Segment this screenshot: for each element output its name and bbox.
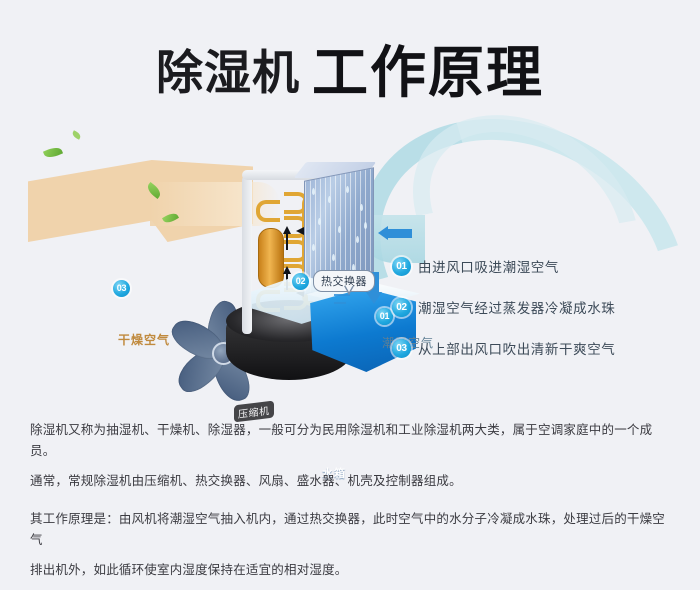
badge-number: 03 [113,280,130,297]
legend-list: 01 由进风口吸进潮湿空气 02 潮湿空气经过蒸发器冷凝成水珠 03 从上部出风… [392,256,672,379]
title-part-2: 工作原理 [312,41,544,104]
water-line [334,302,346,304]
callout-badge-02: 02 [292,271,309,290]
legend-badge-03: 03 [392,339,411,358]
legend-text-03: 从上部出风口吹出清新干爽空气 [418,338,615,358]
unit-frame-left [242,176,252,334]
description-text: 除湿机又称为抽湿机、干燥机、除湿器，一般可分为民用除湿机和工业除湿机两大类，属于… [30,420,675,590]
title-part-1: 除湿机 [156,46,300,99]
badge-number: 02 [292,273,309,290]
badge-number: 01 [376,308,393,325]
legend-text-02: 潮湿空气经过蒸发器冷凝成水珠 [418,297,615,317]
dry-air-label: 干燥空气 [118,331,170,348]
infographic-page: 除湿机工作原理 [0,0,700,566]
leaf-icon [71,130,82,140]
legend-badge-01: 01 [392,257,411,276]
callout-tail-inner [345,285,353,292]
paragraph-4: 排出机外，如此循环使室内湿度保持在适宜的相对湿度。 [30,560,675,581]
legend-badge-02: 02 [392,298,411,317]
paragraph-3: 其工作原理是：由风机将潮湿空气抽入机内，通过热交换器，此时空气中的水分子冷凝成水… [30,509,675,551]
page-title: 除湿机工作原理 [0,28,700,109]
flow-arrow-up-icon [283,266,291,274]
legend-item: 01 由进风口吸进潮湿空气 [392,256,672,276]
callout-badge-03: 03 [113,278,130,297]
leaf-icon [43,145,63,160]
flow-arrow-up-icon [283,226,291,234]
flow-shaft [286,234,288,250]
callout-badge-01: 01 [376,306,393,325]
air-intake-arrow-icon [378,226,412,240]
legend-item: 02 潮湿空气经过蒸发器冷凝成水珠 [392,297,672,317]
paragraph-1: 除湿机又称为抽湿机、干燥机、除湿器，一般可分为民用除湿机和工业除湿机两大类，属于… [30,420,675,462]
paragraph-2: 通常，常规除湿机由压缩机、热交换器、风扇、盛水器、机壳及控制器组成。 [30,471,675,492]
compressor-cylinder [258,228,284,288]
coil-bend [256,200,280,222]
legend-item: 03 从上部出风口吹出清新干爽空气 [392,338,672,358]
flow-arrow-left-icon [296,227,304,235]
legend-text-01: 由进风口吸进潮湿空气 [418,256,559,276]
